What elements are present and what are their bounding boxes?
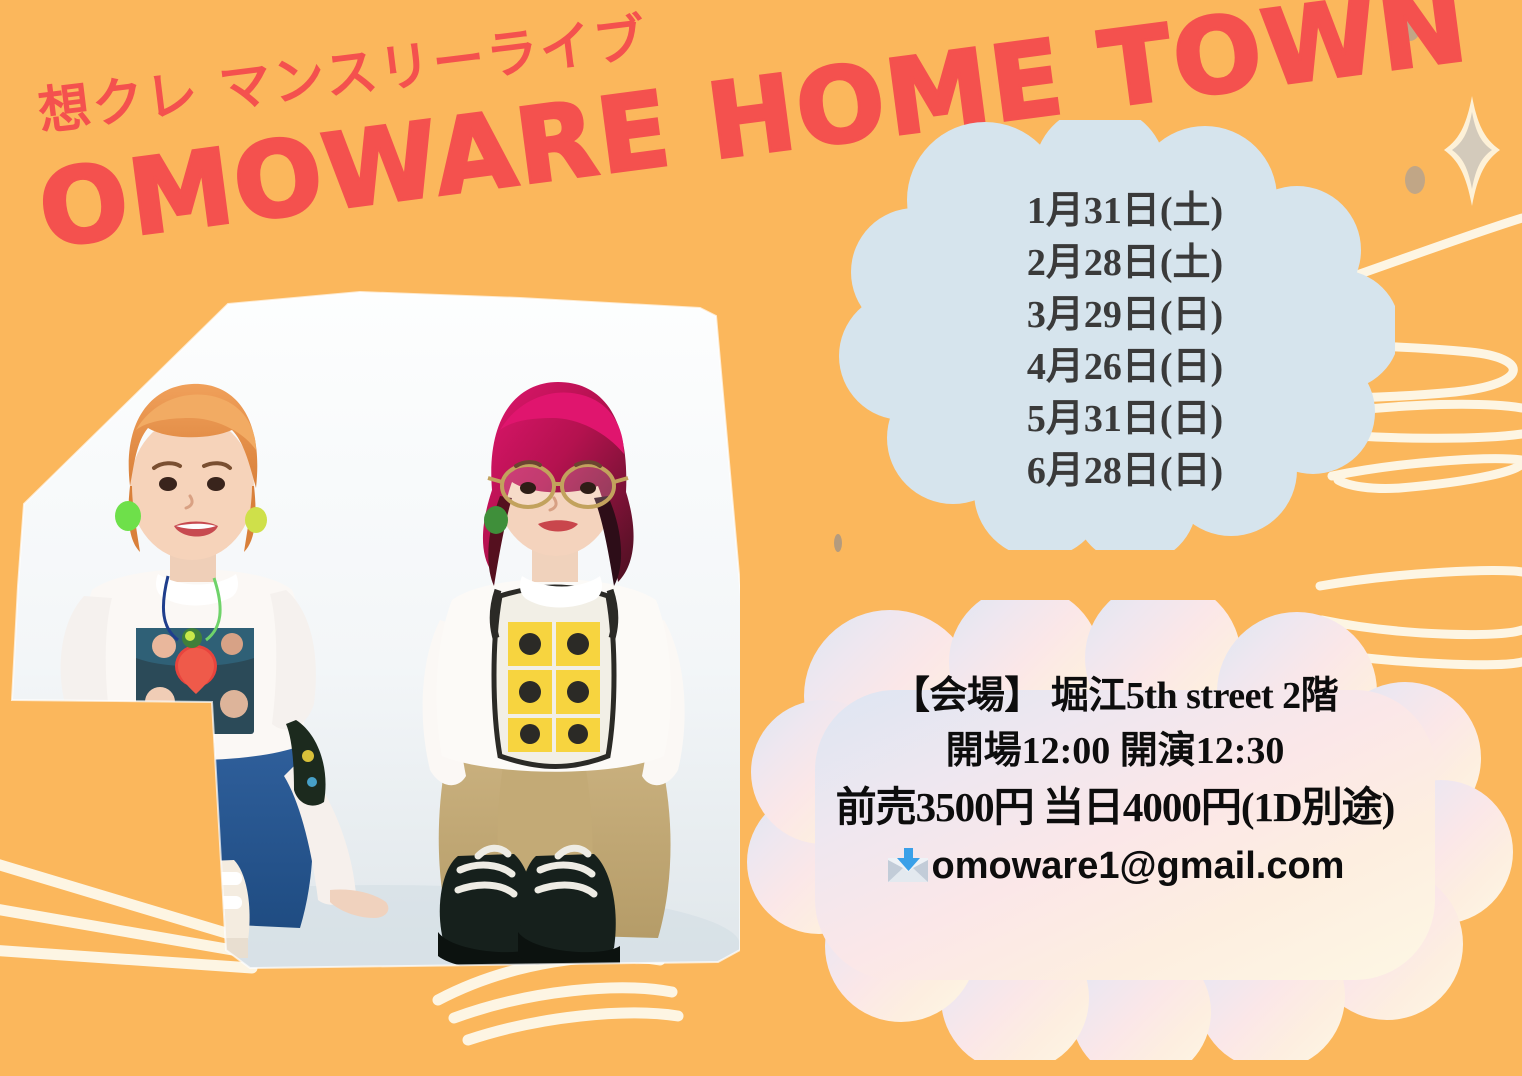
venue-line: 【会場】 堀江5th street 2階 — [740, 672, 1490, 721]
performers-photo — [0, 290, 740, 980]
left-shoes — [99, 860, 250, 963]
event-info: 【会場】 堀江5th street 2階 開場12:00 開演12:30 前売3… — [740, 672, 1490, 896]
price-line: 前売3500円 当日4000円(1D別途) — [740, 781, 1490, 833]
dates-list: 1月31日(土) 2月28日(土) 3月29日(日) 4月26日(日) 5月31… — [960, 185, 1290, 497]
poster-canvas: 想クレ マンスリーライブ OMOWARE HOME TOWN 1月31日(土) … — [0, 0, 1522, 1076]
date-item: 3月29日(日) — [960, 289, 1290, 341]
times-line: 開場12:00 開演12:30 — [740, 727, 1490, 776]
email-line: omoware1@gmail.com — [740, 842, 1490, 897]
date-item: 6月28日(日) — [960, 445, 1290, 497]
right-shoes — [438, 848, 620, 969]
incoming-envelope-icon — [886, 848, 930, 897]
date-item: 2月28日(土) — [960, 237, 1290, 289]
date-item: 4月26日(日) — [960, 341, 1290, 393]
date-item: 1月31日(土) — [960, 185, 1290, 237]
email-address: omoware1@gmail.com — [932, 845, 1345, 887]
date-item: 5月31日(日) — [960, 393, 1290, 445]
